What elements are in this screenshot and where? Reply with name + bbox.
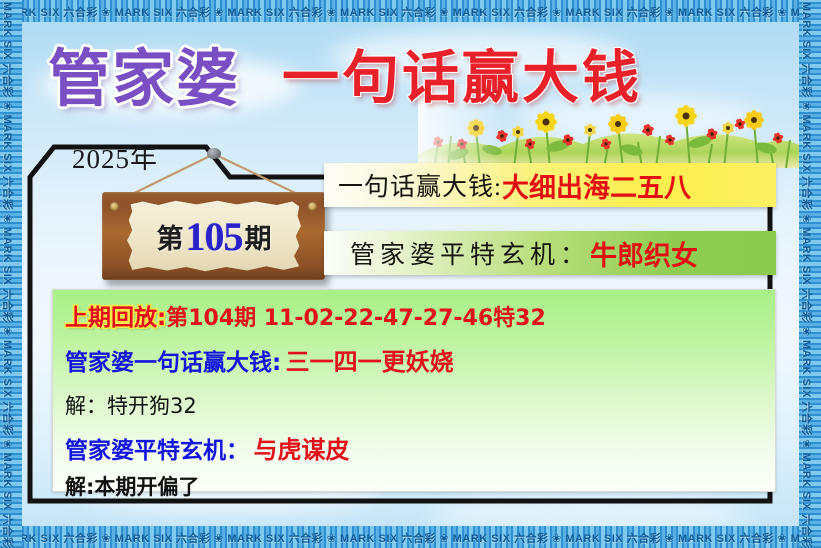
banner-value: 大细出海二五八	[502, 166, 691, 205]
border-bottom: MARK SIX 六合彩 ❀ MARK SIX 六合彩 ❀ MARK SIX 六…	[0, 526, 821, 548]
banner-pingte-xuanji: 管家婆平特玄机： 牛郎织女	[324, 231, 776, 275]
poster-canvas: 管家婆 一句话赢大钱	[0, 0, 821, 548]
border-top: MARK SIX 六合彩 ❀ MARK SIX 六合彩 ❀ MARK SIX 六…	[0, 0, 821, 22]
issue-number: 105	[186, 213, 243, 260]
pingte-label: 管家婆平特玄机：	[65, 438, 249, 464]
border-pattern-text: MARK SIX 六合彩 ❀ MARK SIX 六合彩 ❀ MARK SIX 六…	[799, 2, 815, 548]
page-header: 管家婆 一句话赢大钱	[0, 22, 821, 134]
banner-value: 牛郎织女	[590, 234, 698, 273]
one-sentence-row: 管家婆一句话赢大钱: 三一四一更妖娆	[65, 342, 454, 377]
border-pattern-text: MARK SIX 六合彩 ❀ MARK SIX 六合彩 ❀ MARK SIX 六…	[0, 2, 16, 548]
border-pattern-text: MARK SIX 六合彩 ❀ MARK SIX 六合彩 ❀ MARK SIX 六…	[2, 530, 821, 546]
explanation-one-text: 解：特开狗32	[65, 394, 197, 418]
banner-one-sentence: 一句话赢大钱: 大细出海二五八	[324, 163, 776, 207]
page-title: 管家婆	[48, 48, 240, 110]
one-sentence-label: 管家婆一句话赢大钱:	[65, 350, 281, 376]
one-sentence-value: 三一四一更妖娆	[286, 348, 454, 376]
border-left: MARK SIX 六合彩 ❀ MARK SIX 六合彩 ❀ MARK SIX 六…	[0, 0, 22, 548]
border-pattern-text: MARK SIX 六合彩 ❀ MARK SIX 六合彩 ❀ MARK SIX 六…	[2, 4, 821, 20]
issue-sign: 第 105 期	[102, 192, 325, 280]
nail-icon	[207, 148, 221, 159]
replay-row: 上期回放:第104期 11-02-22-47-27-46特32	[65, 298, 546, 332]
issue-suffix: 期	[245, 217, 272, 256]
explanation-row-two: 解:本期开偏了	[65, 471, 199, 501]
replay-tag: 上期回放:	[65, 305, 166, 331]
sign-text: 第 105 期	[127, 200, 301, 272]
explanation-two-text: 解:本期开偏了	[65, 475, 199, 499]
explanation-row-one: 解：特开狗32	[65, 390, 197, 420]
banner-label: 一句话赢大钱:	[338, 167, 502, 203]
page-subtitle: 一句话赢大钱	[282, 50, 642, 107]
pingte-xuanji-row: 管家婆平特玄机： 与虎谋皮	[65, 430, 349, 465]
replay-value: 第104期 11-02-22-47-27-46特32	[166, 306, 546, 331]
issue-prefix: 第	[157, 217, 184, 256]
previous-results-panel: 上期回放:第104期 11-02-22-47-27-46特32 管家婆一句话赢大…	[52, 289, 776, 492]
banner-label: 管家婆平特玄机：	[350, 235, 590, 271]
pingte-value: 与虎谋皮	[253, 436, 349, 464]
border-right: MARK SIX 六合彩 ❀ MARK SIX 六合彩 ❀ MARK SIX 六…	[799, 0, 821, 548]
